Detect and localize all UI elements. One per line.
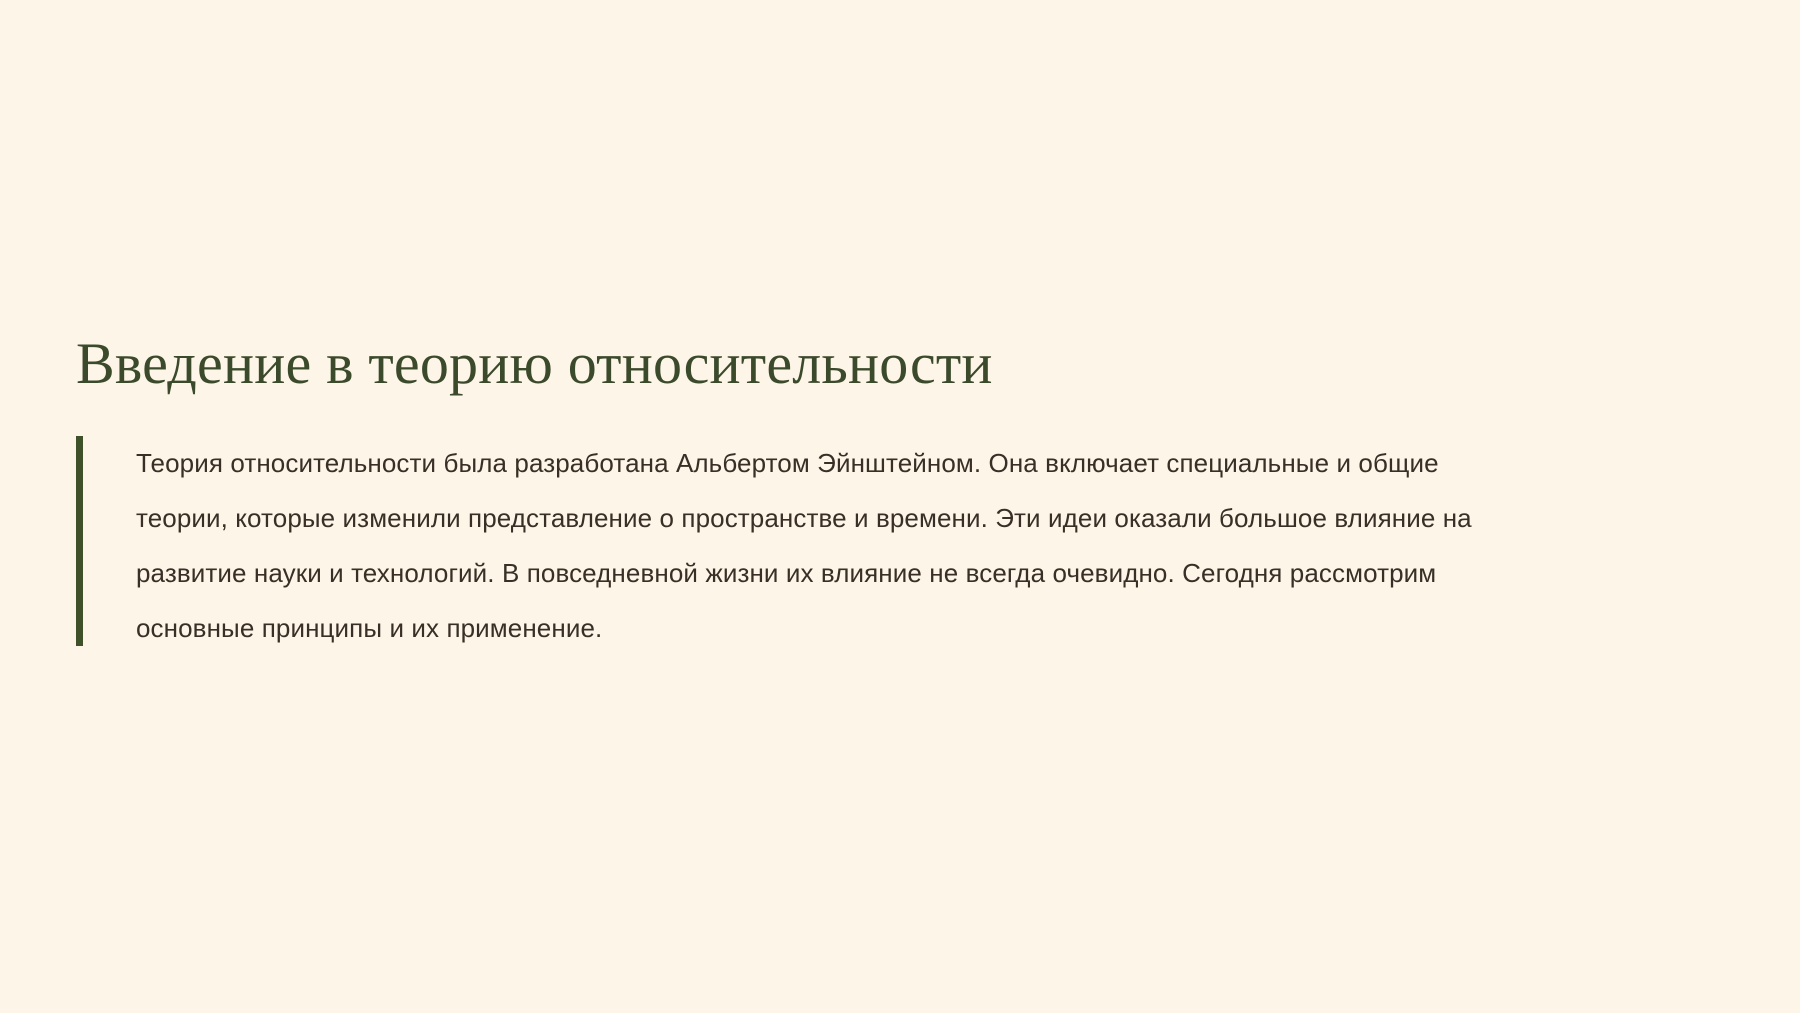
body-paragraph: Теория относительности была разработана … [136, 436, 1536, 656]
accent-bar [76, 436, 83, 646]
slide-canvas: Введение в теорию относительности Теория… [0, 0, 1800, 1013]
body-blockquote: Теория относительности была разработана … [76, 436, 1716, 656]
page-title: Введение в теорию относительности [76, 330, 1716, 398]
slide-content: Введение в теорию относительности Теория… [76, 330, 1716, 656]
